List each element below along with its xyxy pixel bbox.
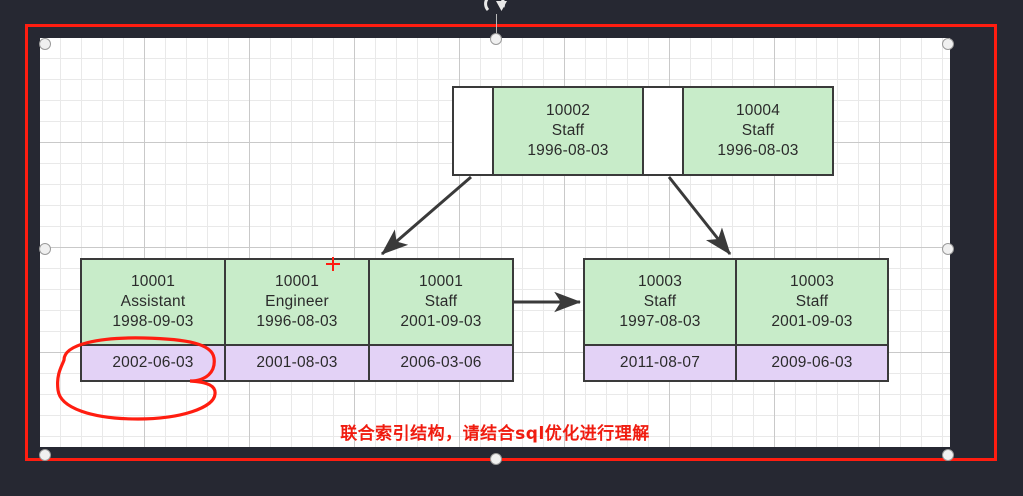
leaf-right-key-cell-1[interactable]: 10003 Staff 2001-09-03 (735, 258, 889, 346)
handle-top-center[interactable] (490, 33, 502, 45)
diagram-caption: 联合索引结构，请结合sql优化进行理解 (40, 419, 950, 444)
handle-top-right[interactable] (942, 38, 954, 50)
handle-bottom-right[interactable] (942, 449, 954, 461)
leaf-right-key-1-line-2: 2001-09-03 (771, 312, 852, 332)
root-pointer-cell-1[interactable] (642, 86, 684, 176)
leaf-left-extra-cell-2[interactable]: 2006-03-06 (368, 344, 514, 382)
rotate-handle-icon[interactable] (482, 0, 512, 18)
screenshot-stage: 10002 Staff 1996-08-03 10004 Staff 1996-… (0, 0, 1023, 496)
handle-bottom-center[interactable] (490, 453, 502, 465)
handle-bottom-left[interactable] (39, 449, 51, 461)
leaf-right-key-0-line-1: Staff (644, 292, 677, 312)
leaf-left-key-1-line-0: 10001 (275, 272, 319, 292)
leaf-left-key-0-line-1: Assistant (121, 292, 186, 312)
root-key-cell-0[interactable]: 10002 Staff 1996-08-03 (492, 86, 644, 176)
root-pointer-cell-0[interactable] (452, 86, 494, 176)
root-node[interactable]: 10002 Staff 1996-08-03 10004 Staff 1996-… (452, 86, 832, 176)
leaf-left-extra-cell-0[interactable]: 2002-06-03 (80, 344, 226, 382)
root-key-cell-1[interactable]: 10004 Staff 1996-08-03 (682, 86, 834, 176)
root-key-0-line-2: 1996-08-03 (527, 141, 608, 161)
root-key-0-line-1: Staff (552, 121, 585, 141)
leaf-left-key-0-line-0: 10001 (131, 272, 175, 292)
leaf-left-key-2-line-1: Staff (425, 292, 458, 312)
leaf-right-key-cell-0[interactable]: 10003 Staff 1997-08-03 (583, 258, 737, 346)
handle-top-left[interactable] (39, 38, 51, 50)
root-key-1-line-1: Staff (742, 121, 775, 141)
arrow-root-to-leaf-left (382, 177, 471, 254)
leaf-left-key-1-line-1: Engineer (265, 292, 329, 312)
arrow-root-to-leaf-right (669, 177, 730, 254)
leaf-left-key-cell-1[interactable]: 10001 Engineer 1996-08-03 (224, 258, 370, 346)
leaf-left-key-cell-0[interactable]: 10001 Assistant 1998-09-03 (80, 258, 226, 346)
root-key-1-line-0: 10004 (736, 101, 780, 121)
leaf-node-left-extras[interactable]: 2002-06-03 2001-08-03 2006-03-06 (80, 344, 512, 382)
leaf-right-key-1-line-0: 10003 (790, 272, 834, 292)
handle-middle-left[interactable] (39, 243, 51, 255)
leaf-right-key-1-line-1: Staff (796, 292, 829, 312)
drawing-canvas[interactable]: 10002 Staff 1996-08-03 10004 Staff 1996-… (40, 38, 950, 447)
root-key-1-line-2: 1996-08-03 (717, 141, 798, 161)
handle-middle-right[interactable] (942, 243, 954, 255)
leaf-right-extra-cell-1[interactable]: 2009-06-03 (735, 344, 889, 382)
root-key-0-line-0: 10002 (546, 101, 590, 121)
leaf-node-right-keys[interactable]: 10003 Staff 1997-08-03 10003 Staff 2001-… (583, 258, 887, 346)
leaf-left-key-2-line-0: 10001 (419, 272, 463, 292)
leaf-right-key-0-line-0: 10003 (638, 272, 682, 292)
leaf-node-right-extras[interactable]: 2011-08-07 2009-06-03 (583, 344, 887, 382)
leaf-left-key-0-line-2: 1998-09-03 (112, 312, 193, 332)
leaf-left-key-2-line-2: 2001-09-03 (400, 312, 481, 332)
leaf-left-key-cell-2[interactable]: 10001 Staff 2001-09-03 (368, 258, 514, 346)
leaf-right-key-0-line-2: 1997-08-03 (619, 312, 700, 332)
leaf-node-left-keys[interactable]: 10001 Assistant 1998-09-03 10001 Enginee… (80, 258, 512, 346)
leaf-left-extra-cell-1[interactable]: 2001-08-03 (224, 344, 370, 382)
leaf-left-key-1-line-2: 1996-08-03 (256, 312, 337, 332)
leaf-right-extra-cell-0[interactable]: 2011-08-07 (583, 344, 737, 382)
